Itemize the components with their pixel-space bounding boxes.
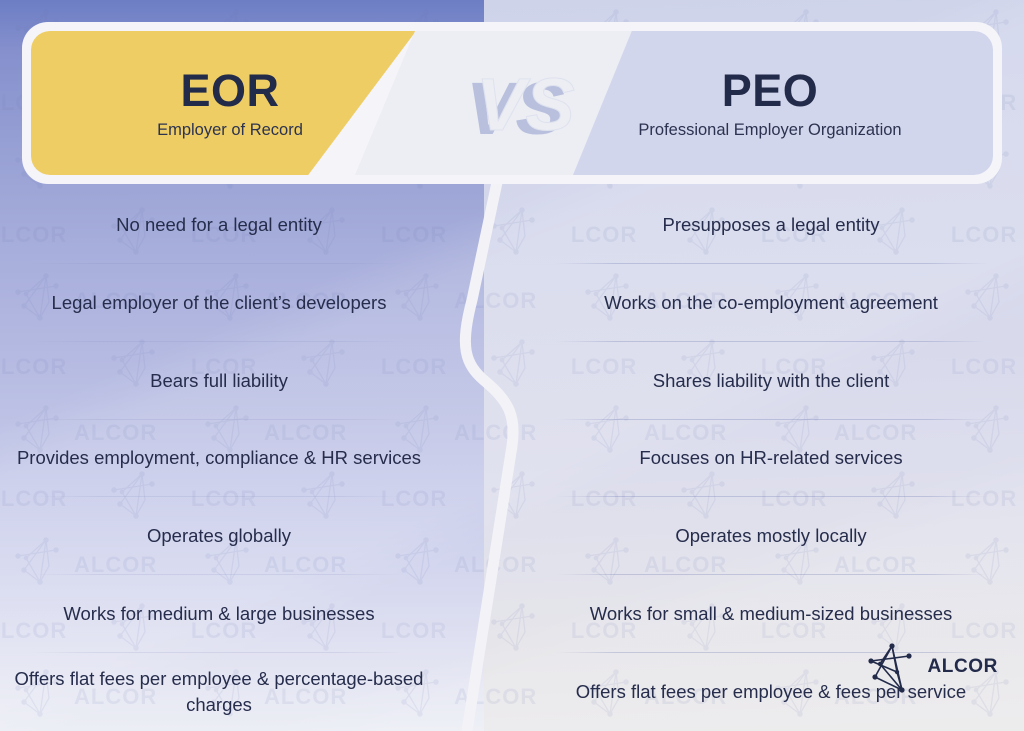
list-item: Focuses on HR-related services xyxy=(500,420,1024,498)
peo-row-text: Presupposes a legal entity xyxy=(663,212,880,238)
peo-row-text: Operates mostly locally xyxy=(675,523,866,549)
eor-row-text: Bears full liability xyxy=(150,368,288,394)
eor-row-text: Works for medium & large businesses xyxy=(63,601,374,627)
list-item: Operates globally xyxy=(0,497,472,575)
header-eor-column: EOR Employer of Record xyxy=(60,22,400,184)
eor-title: EOR xyxy=(180,68,279,113)
list-item: Legal employer of the client’s developer… xyxy=(0,264,472,342)
eor-feature-list: No need for a legal entity Legal employe… xyxy=(0,186,472,731)
list-item: Presupposes a legal entity xyxy=(500,186,1024,264)
alcor-constellation-icon xyxy=(867,639,919,695)
eor-subtitle: Employer of Record xyxy=(157,122,303,139)
peo-row-text: Works for small & medium-sized businesse… xyxy=(590,601,953,627)
peo-row-text: Focuses on HR-related services xyxy=(639,445,902,471)
vs-text: VS xyxy=(476,63,575,146)
eor-row-text: Operates globally xyxy=(147,523,291,549)
peo-row-text: Shares liability with the client xyxy=(653,368,890,394)
eor-row-text: Offers flat fees per employee & percenta… xyxy=(14,666,424,719)
alcor-logo: ALCOR xyxy=(867,639,998,695)
peo-subtitle: Professional Employer Organization xyxy=(638,122,901,139)
list-item: Offers flat fees per employee & percenta… xyxy=(0,653,472,731)
list-item: Operates mostly locally xyxy=(500,497,1024,575)
comparison-header-card: EOR Employer of Record VS VS PEO Profess… xyxy=(22,22,1002,184)
list-item: Works for medium & large businesses xyxy=(0,575,472,653)
eor-row-text: Legal employer of the client’s developer… xyxy=(52,290,387,316)
peo-row-text: Works on the co-employment agreement xyxy=(604,290,938,316)
eor-row-text: No need for a legal entity xyxy=(116,212,322,238)
list-item: No need for a legal entity xyxy=(0,186,472,264)
list-item: Bears full liability xyxy=(0,342,472,420)
list-item: Shares liability with the client xyxy=(500,342,1024,420)
eor-row-text: Provides employment, compliance & HR ser… xyxy=(17,445,421,471)
list-item: Works on the co-employment agreement xyxy=(500,264,1024,342)
peo-title: PEO xyxy=(722,68,819,113)
vs-badge: VS VS xyxy=(454,62,614,152)
header-peo-column: PEO Professional Employer Organization xyxy=(560,22,980,184)
vs-icon: VS VS xyxy=(454,62,614,152)
list-item: Provides employment, compliance & HR ser… xyxy=(0,420,472,498)
alcor-wordmark: ALCOR xyxy=(927,656,998,678)
